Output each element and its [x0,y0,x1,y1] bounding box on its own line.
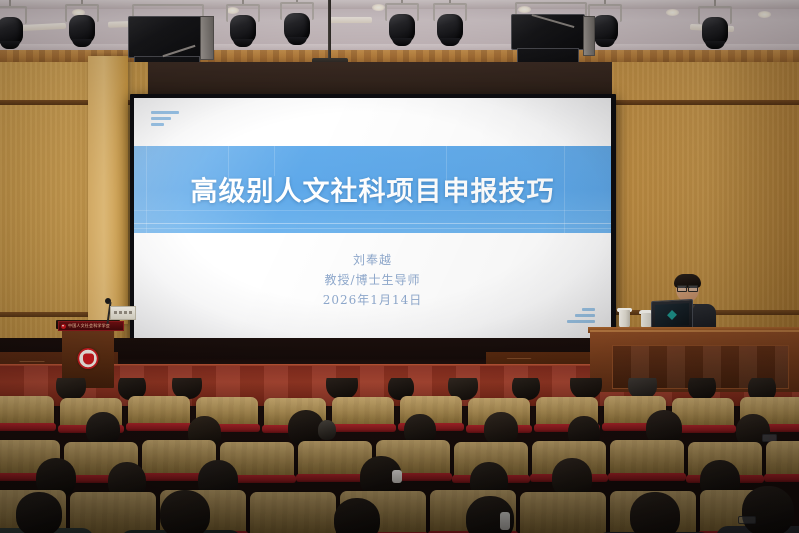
glasses-icon [738,516,756,524]
slide-title-band: 高级别人文社科项目申报技巧 [134,146,611,233]
lectern-banner: 中国人文社会科学学会 [58,321,124,331]
wall-pilaster-left [88,56,128,324]
auditorium-seat [520,492,606,533]
audience-head [160,490,210,533]
projection-screen: 高级别人文社科项目申报技巧 刘奉越 教授/博士生导师 2026年1月14日 [134,98,611,338]
slide-speaker-name: 刘奉越 [134,251,611,268]
audience-head [86,412,120,446]
drinking-cup [641,313,651,327]
slide-decoration-top-left-icon [151,111,179,129]
slide-date: 2026年1月14日 [134,291,611,308]
auditorium-seat [0,396,54,426]
lectern-emblem-icon [78,348,99,369]
audience-head [16,492,62,533]
audience-seating [0,378,799,533]
auditorium-seat [250,492,336,533]
auditorium-seat [332,397,394,427]
lectern-banner-text: 中国人文社会科学学会 [68,323,110,329]
auditorium-seat [128,396,190,426]
audience-head [484,412,518,446]
audience-head [742,486,794,533]
audience-head [326,378,358,399]
projector-pole [328,0,331,62]
audience-head [688,378,716,400]
laptop-screen [655,303,689,327]
audience-head [318,420,336,440]
hair-accessory [500,512,510,530]
audience-head [512,378,540,400]
slide-decoration-bottom-right-icon [567,308,595,326]
nameplate [110,306,136,320]
glasses-icon [677,285,698,290]
drinking-cup [619,310,630,328]
slide-title: 高级别人文社科项目申报技巧 [134,169,611,208]
laptop-logo-icon [667,310,677,320]
auditorium-seat [766,441,799,477]
slide-speaker-role: 教授/博士生导师 [134,271,611,288]
hair-accessory [392,470,402,483]
audience-head [334,498,380,533]
auditorium-scene: EPSON [0,0,799,533]
auditorium-seat [610,440,684,476]
auditorium-seat [70,492,156,533]
audience-head [570,378,602,399]
audience-head [630,492,680,533]
lectern-banner-emblem-icon [61,324,66,329]
presentation-slide: 高级别人文社科项目申报技巧 刘奉越 教授/博士生导师 2026年1月14日 [134,98,611,338]
audience-head [56,378,86,400]
slide-subtitle-block: 刘奉越 教授/博士生导师 2026年1月14日 [134,248,611,311]
